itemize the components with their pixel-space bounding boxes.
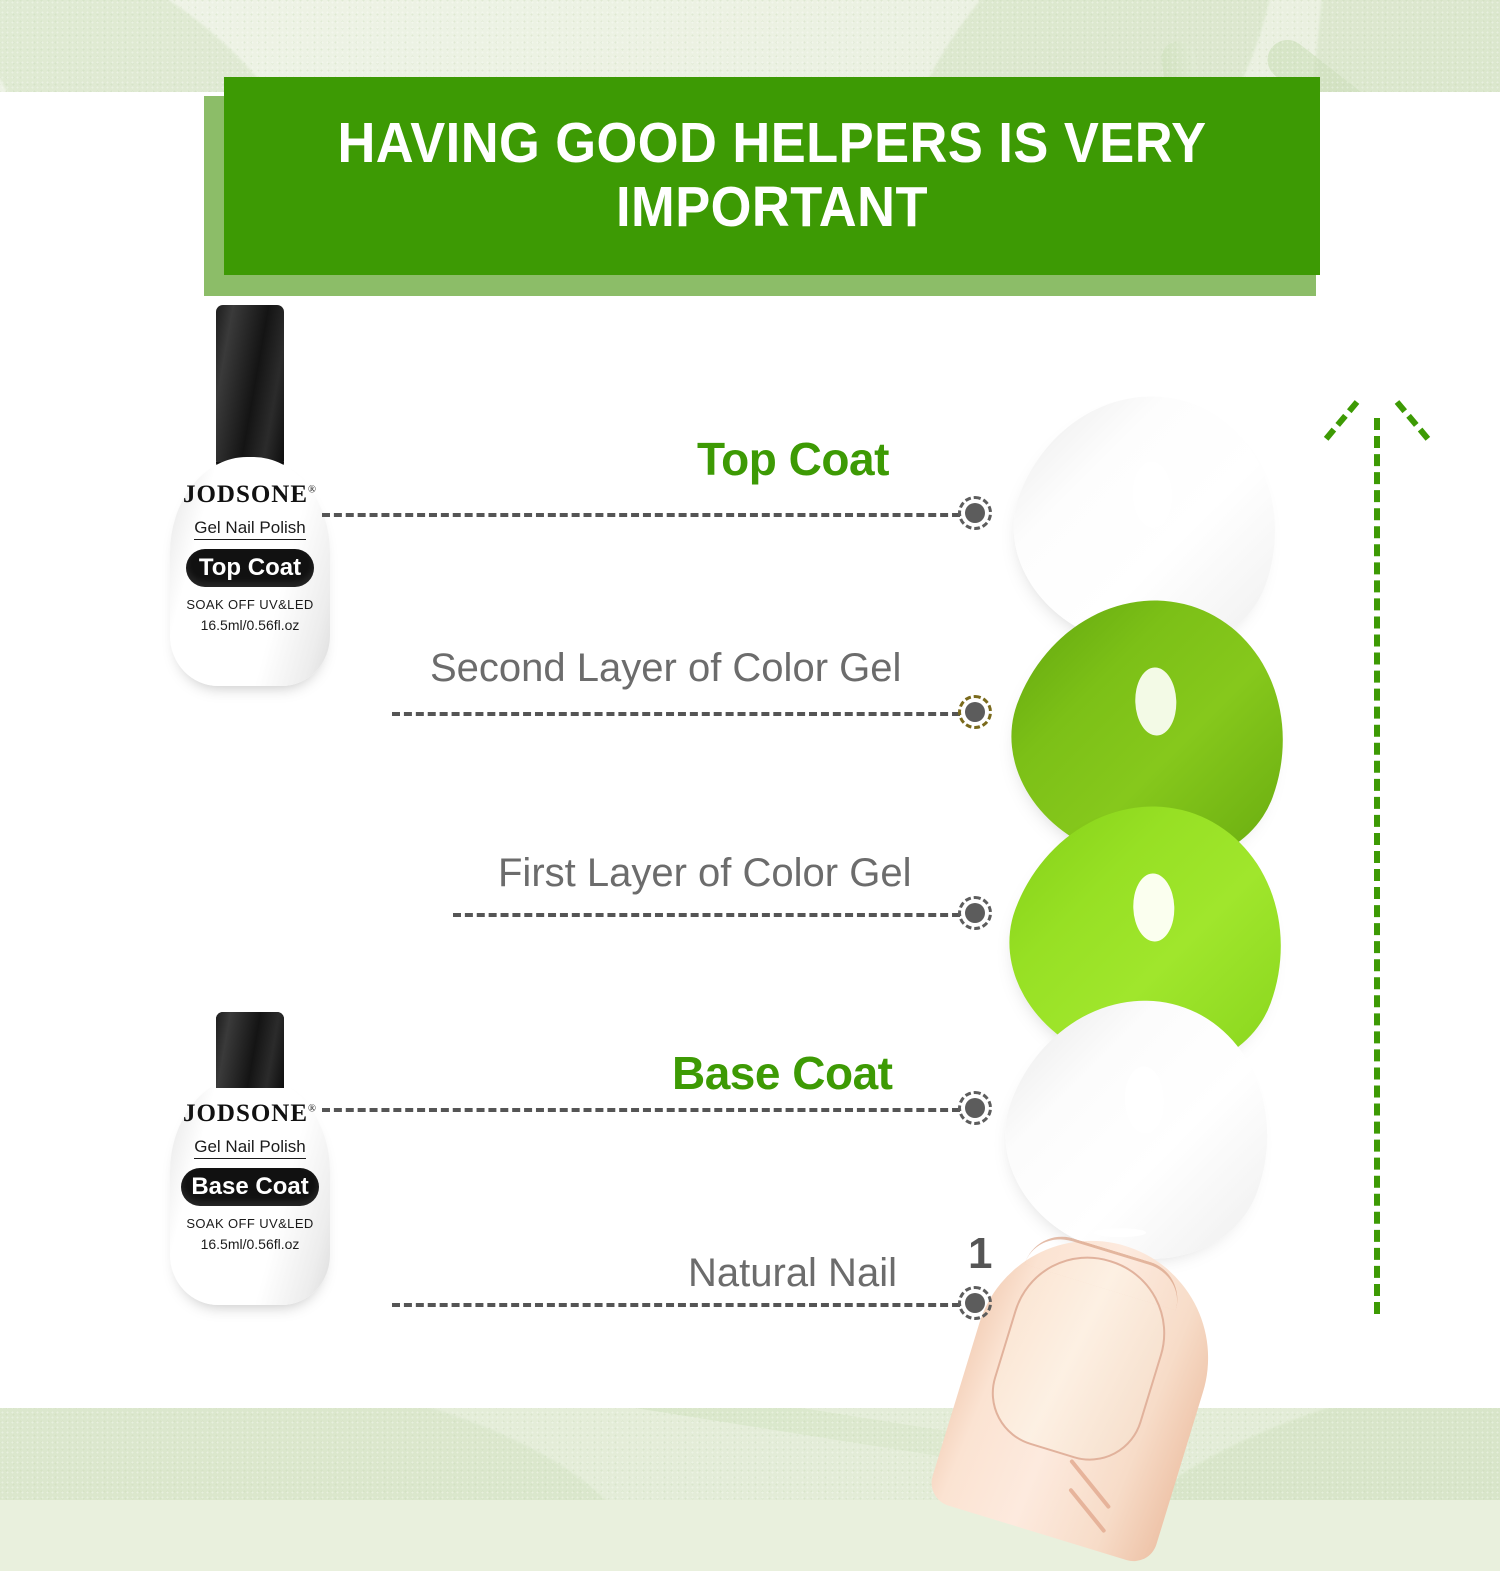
brand-text: JODSONE bbox=[183, 1100, 308, 1127]
bottle-brand: JODSONE® bbox=[183, 481, 317, 509]
connector-dot-base-coat[interactable] bbox=[958, 1091, 992, 1125]
connector-line-natural-nail bbox=[392, 1303, 960, 1307]
connector-line-first-layer bbox=[453, 913, 960, 917]
bottle-product-badge: Top Coat bbox=[186, 549, 314, 587]
nail-highlight bbox=[1132, 873, 1175, 942]
connector-dot-natural-nail[interactable] bbox=[958, 1286, 992, 1320]
nail-highlight bbox=[1132, 460, 1174, 527]
nail-highlight bbox=[1124, 1065, 1166, 1133]
bottle-subtitle: Gel Nail Polish bbox=[194, 1137, 306, 1159]
connector-line-base-coat bbox=[322, 1108, 960, 1112]
layer-label-first-layer: First Layer of Color Gel bbox=[498, 851, 911, 896]
connector-dot-second-layer[interactable] bbox=[958, 695, 992, 729]
dot-core bbox=[965, 1293, 985, 1313]
registered-mark: ® bbox=[308, 1104, 317, 1115]
page-title: HAVING GOOD HELPERS IS VERY IMPORTANT bbox=[307, 112, 1236, 240]
registered-mark: ® bbox=[308, 485, 317, 496]
nail-highlight bbox=[1134, 667, 1177, 736]
dot-core bbox=[965, 702, 985, 722]
nail-gloss bbox=[1093, 1228, 1145, 1237]
arrow-stem bbox=[1374, 418, 1380, 1314]
bottle-volume: 16.5ml/0.56fl.oz bbox=[201, 1236, 300, 1252]
dot-core bbox=[965, 1098, 985, 1118]
layer-label-second-layer: Second Layer of Color Gel bbox=[430, 646, 901, 691]
header-banner: HAVING GOOD HELPERS IS VERY IMPORTANT bbox=[224, 77, 1320, 275]
bottle-usage: SOAK OFF UV&LED bbox=[186, 1216, 313, 1231]
bottle-body: JODSONE® Gel Nail Polish Top Coat SOAK O… bbox=[170, 457, 330, 686]
bottle-body: JODSONE® Gel Nail Polish Base Coat SOAK … bbox=[170, 1076, 330, 1305]
dot-core bbox=[965, 503, 985, 523]
bottle-cap-stem bbox=[216, 1012, 284, 1088]
connector-line-second-layer bbox=[392, 712, 960, 716]
bottle-product-badge: Base Coat bbox=[181, 1168, 319, 1206]
bottle-brand: JODSONE® bbox=[183, 1100, 317, 1128]
brand-text: JODSONE bbox=[183, 481, 308, 508]
top-coat-bottle: JODSONE® Gel Nail Polish Top Coat SOAK O… bbox=[150, 305, 350, 675]
bottle-usage: SOAK OFF UV&LED bbox=[186, 597, 313, 612]
connector-dot-first-layer[interactable] bbox=[958, 896, 992, 930]
bottle-cap bbox=[216, 305, 284, 465]
connector-line-top-coat bbox=[322, 513, 960, 517]
bottle-subtitle: Gel Nail Polish bbox=[194, 518, 306, 540]
layer-label-base-coat: Base Coat bbox=[672, 1046, 892, 1100]
layer-label-top-coat: Top Coat bbox=[697, 432, 889, 486]
bottle-volume: 16.5ml/0.56fl.oz bbox=[201, 617, 300, 633]
connector-dot-top-coat[interactable] bbox=[958, 496, 992, 530]
dot-core bbox=[965, 903, 985, 923]
step-number-badge: 1 bbox=[968, 1229, 992, 1279]
layer-label-natural-nail: Natural Nail bbox=[688, 1251, 897, 1296]
